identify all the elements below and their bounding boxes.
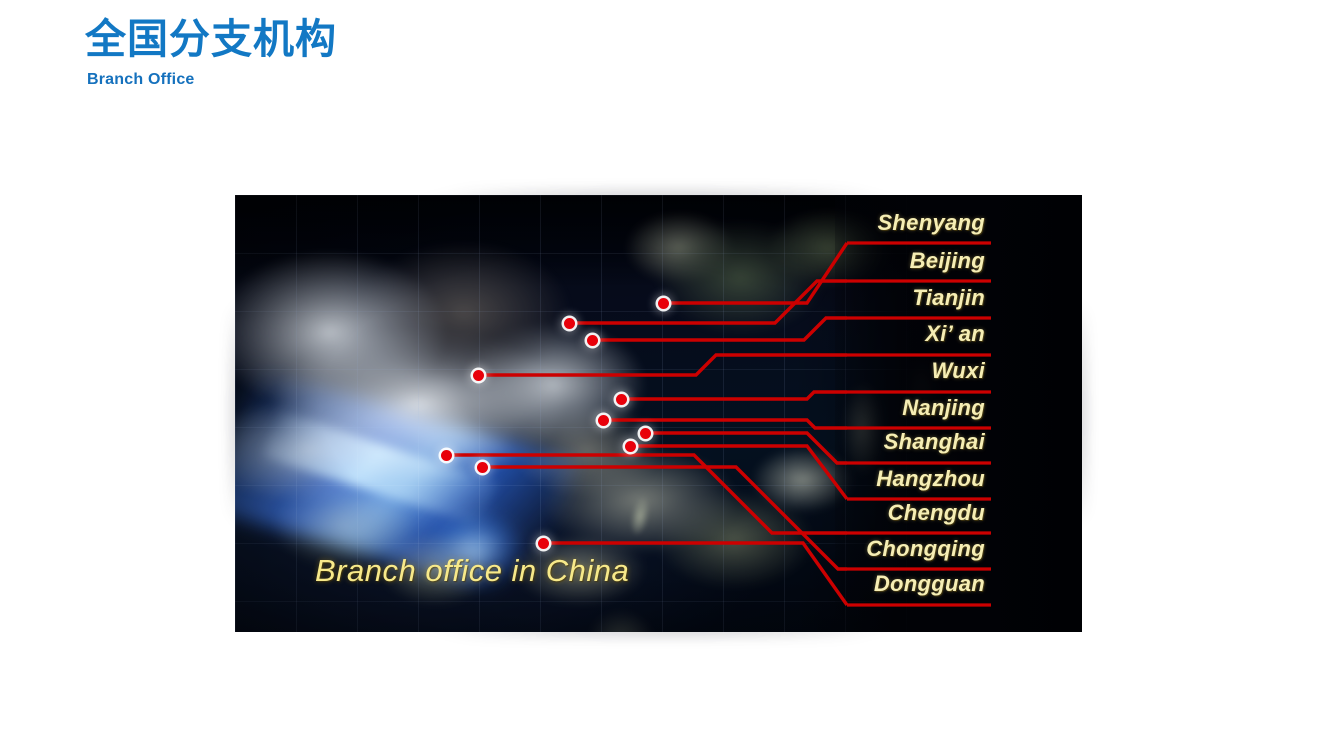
slide-canvas: 全国分支机构 Branch Office (0, 0, 1324, 743)
city-label-dongguan[interactable]: Dongguan (735, 571, 985, 597)
city-marker-hangzhou[interactable] (625, 441, 636, 452)
city-label-beijing[interactable]: Beijing (735, 248, 985, 274)
city-marker-shanghai[interactable] (640, 428, 651, 439)
city-label-tianjin[interactable]: Tianjin (735, 285, 985, 311)
city-label-chengdu[interactable]: Chengdu (735, 500, 985, 526)
city-marker-dongguan[interactable] (538, 538, 549, 549)
city-marker-wuxi[interactable] (616, 394, 627, 405)
city-label-hangzhou[interactable]: Hangzhou (735, 466, 985, 492)
city-marker-nanjing[interactable] (598, 415, 609, 426)
page-title-cn: 全国分支机构 (85, 16, 685, 63)
city-marker-tianjin[interactable] (587, 335, 598, 346)
slide-header: 全国分支机构 Branch Office (85, 16, 685, 89)
map-caption: Branch office in China (315, 553, 629, 589)
city-marker-chengdu[interactable] (441, 450, 452, 461)
city-marker-chongqing[interactable] (477, 462, 488, 473)
page-title-en: Branch Office (87, 71, 685, 89)
city-marker-xian[interactable] (473, 370, 484, 381)
city-label-wuxi[interactable]: Wuxi (735, 358, 985, 384)
city-label-shenyang[interactable]: Shenyang (735, 210, 985, 236)
city-label-nanjing[interactable]: Nanjing (735, 395, 985, 421)
city-label-chongqing[interactable]: Chongqing (735, 536, 985, 562)
city-label-xian[interactable]: Xi’ an (735, 321, 985, 347)
city-label-list: ShenyangBeijingTianjinXi’ anWuxiNanjingS… (835, 195, 1082, 632)
city-label-shanghai[interactable]: Shanghai (735, 429, 985, 455)
city-marker-beijing[interactable] (564, 318, 575, 329)
china-branch-map: ShenyangBeijingTianjinXi’ anWuxiNanjingS… (235, 195, 1082, 632)
city-marker-shenyang[interactable] (658, 298, 669, 309)
